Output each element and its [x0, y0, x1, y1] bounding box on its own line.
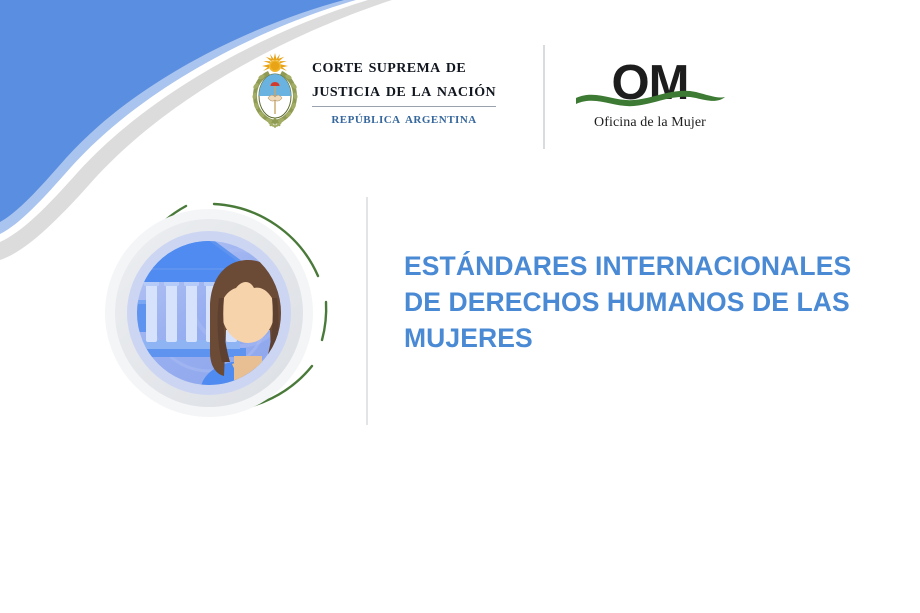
page-title: ESTÁNDARES INTERNACIONALES DE DERECHOS H…: [404, 248, 890, 356]
om-logo: OM Oficina de la Mujer: [570, 55, 730, 131]
argentina-coat-of-arms-icon: [248, 52, 302, 130]
om-caption: Oficina de la Mujer: [570, 115, 730, 131]
om-green-swoosh-icon: [570, 85, 730, 107]
csjn-line-1: Corte Suprema de: [312, 55, 496, 79]
slide-canvas: Corte Suprema de Justicia de la Nación R…: [0, 0, 920, 613]
csjn-logo: Corte Suprema de Justicia de la Nación R…: [248, 52, 496, 130]
logo-divider: [543, 45, 545, 149]
csjn-line-2: Justicia de la Nación: [312, 79, 496, 103]
csjn-line-3: República Argentina: [312, 110, 496, 129]
header-logos: Corte Suprema de Justicia de la Nación R…: [248, 52, 496, 152]
title-divider: [366, 197, 368, 425]
csjn-rule: [312, 106, 496, 107]
page-title-text: ESTÁNDARES INTERNACIONALES DE DERECHOS H…: [404, 248, 890, 356]
courthouse-and-woman-emblem-icon: [64, 180, 354, 445]
om-mark: OM: [570, 55, 730, 111]
csjn-wordmark: Corte Suprema de Justicia de la Nación R…: [312, 53, 496, 129]
